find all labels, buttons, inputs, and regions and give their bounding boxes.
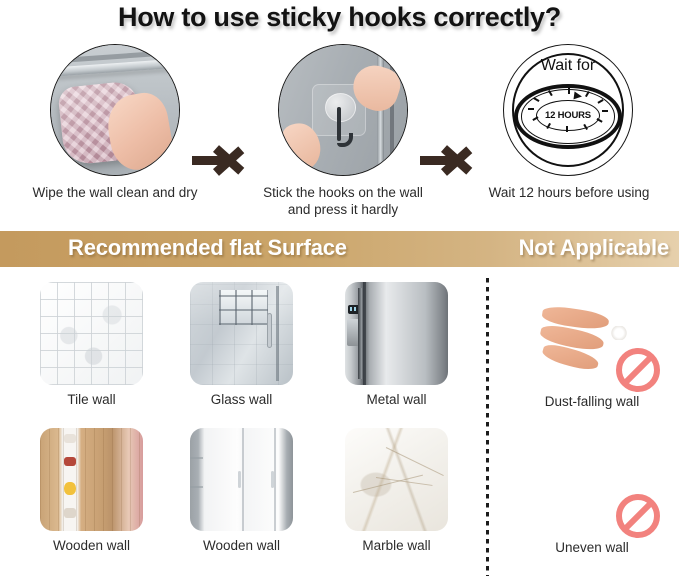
surface-cell-tile-wall: Tile wall — [40, 282, 143, 385]
page-title: How to use sticky hooks correctly? — [0, 2, 679, 33]
step-2-photo — [278, 44, 408, 176]
shelf-item — [64, 508, 75, 517]
surface-label: Glass wall — [166, 392, 317, 407]
wardrobe-handle — [271, 471, 274, 487]
step-3: Wait for 12 HOURS Wait 12 hours before u… — [503, 44, 633, 176]
surface-cell-uneven-wall: Uneven wall — [540, 428, 644, 532]
surface-cell-dust-falling-wall: Dust-falling wall — [540, 282, 644, 386]
stainless-refrigerator-thumbnail — [345, 282, 448, 385]
clock-arrow-icon — [574, 91, 583, 100]
door-frame — [276, 286, 279, 381]
tile-wall-thumbnail — [40, 282, 143, 385]
shelf-item — [64, 457, 75, 466]
clock-wait-label: Wait for — [504, 57, 632, 75]
step-arrow-2-icon — [420, 136, 482, 184]
clock-duration-label: 12 HOURS — [545, 110, 591, 121]
white-wardrobe-thumbnail — [190, 428, 293, 531]
dotted-vertical-divider — [486, 278, 489, 576]
marble-vein — [353, 474, 423, 493]
fridge-panel-seam — [363, 282, 366, 385]
window — [219, 290, 268, 325]
infographic-root: How to use sticky hooks correctly? Wipe … — [0, 0, 679, 581]
step-2-caption: Stick the hooks on the wall and press it… — [254, 184, 432, 218]
prohibited-icon — [616, 494, 660, 538]
clock-tick-icon — [602, 110, 608, 112]
surface-label: Tile wall — [16, 392, 167, 407]
step-1: Wipe the wall clean and dry — [50, 44, 180, 176]
step-1-photo — [50, 44, 180, 176]
surface-cell-metal-wall: Metal wall — [345, 282, 448, 385]
clock-tick-icon — [528, 108, 534, 110]
surface-label: Wooden wall — [166, 538, 317, 553]
section-banner: Recommended flat Surface Not Applicable — [0, 231, 679, 267]
step-3-caption: Wait 12 hours before using — [481, 184, 657, 201]
shower-handle — [267, 313, 272, 348]
door-edge — [390, 44, 394, 176]
surface-cell-glass-wall: Glass wall — [190, 282, 293, 385]
surface-label: Metal wall — [321, 392, 472, 407]
banner-recommended-title: Recommended flat Surface — [68, 235, 347, 261]
clock-tick-icon — [568, 88, 570, 94]
door-gap — [274, 428, 276, 531]
shelf-line — [190, 486, 203, 488]
wooden-cabinet-thumbnail — [40, 428, 143, 531]
surface-label: Wooden wall — [16, 538, 167, 553]
step-1-caption: Wipe the wall clean and dry — [22, 184, 208, 201]
step-3-photo: Wait for 12 HOURS — [503, 44, 633, 176]
surface-cell-wooden-wall-1: Wooden wall — [40, 428, 143, 531]
surface-label: Marble wall — [321, 538, 472, 553]
glass-shower-door-thumbnail — [190, 282, 293, 385]
step-2: Stick the hooks on the wall and press it… — [278, 44, 408, 176]
surface-cell-wooden-wall-2: Wooden wall — [190, 428, 293, 531]
door-gap — [242, 428, 244, 531]
wardrobe-handle — [238, 471, 241, 487]
banner-not-applicable-title: Not Applicable — [519, 235, 669, 261]
dust-particles — [611, 326, 628, 341]
surface-cell-marble-wall: Marble wall — [345, 428, 448, 531]
shelf-item — [64, 434, 75, 443]
surface-label: Dust-falling wall — [500, 394, 679, 409]
prohibited-icon — [616, 348, 660, 392]
clock-center: 12 HOURS — [536, 100, 600, 131]
steps-row: Wipe the wall clean and dry Stick the ho… — [0, 44, 679, 219]
marble-vein — [386, 447, 444, 476]
step-arrow-1-icon — [192, 136, 254, 184]
shelf-line — [190, 457, 203, 459]
shelf-item — [64, 482, 75, 495]
marble-slab-thumbnail — [345, 428, 448, 531]
surface-label: Uneven wall — [500, 540, 679, 555]
